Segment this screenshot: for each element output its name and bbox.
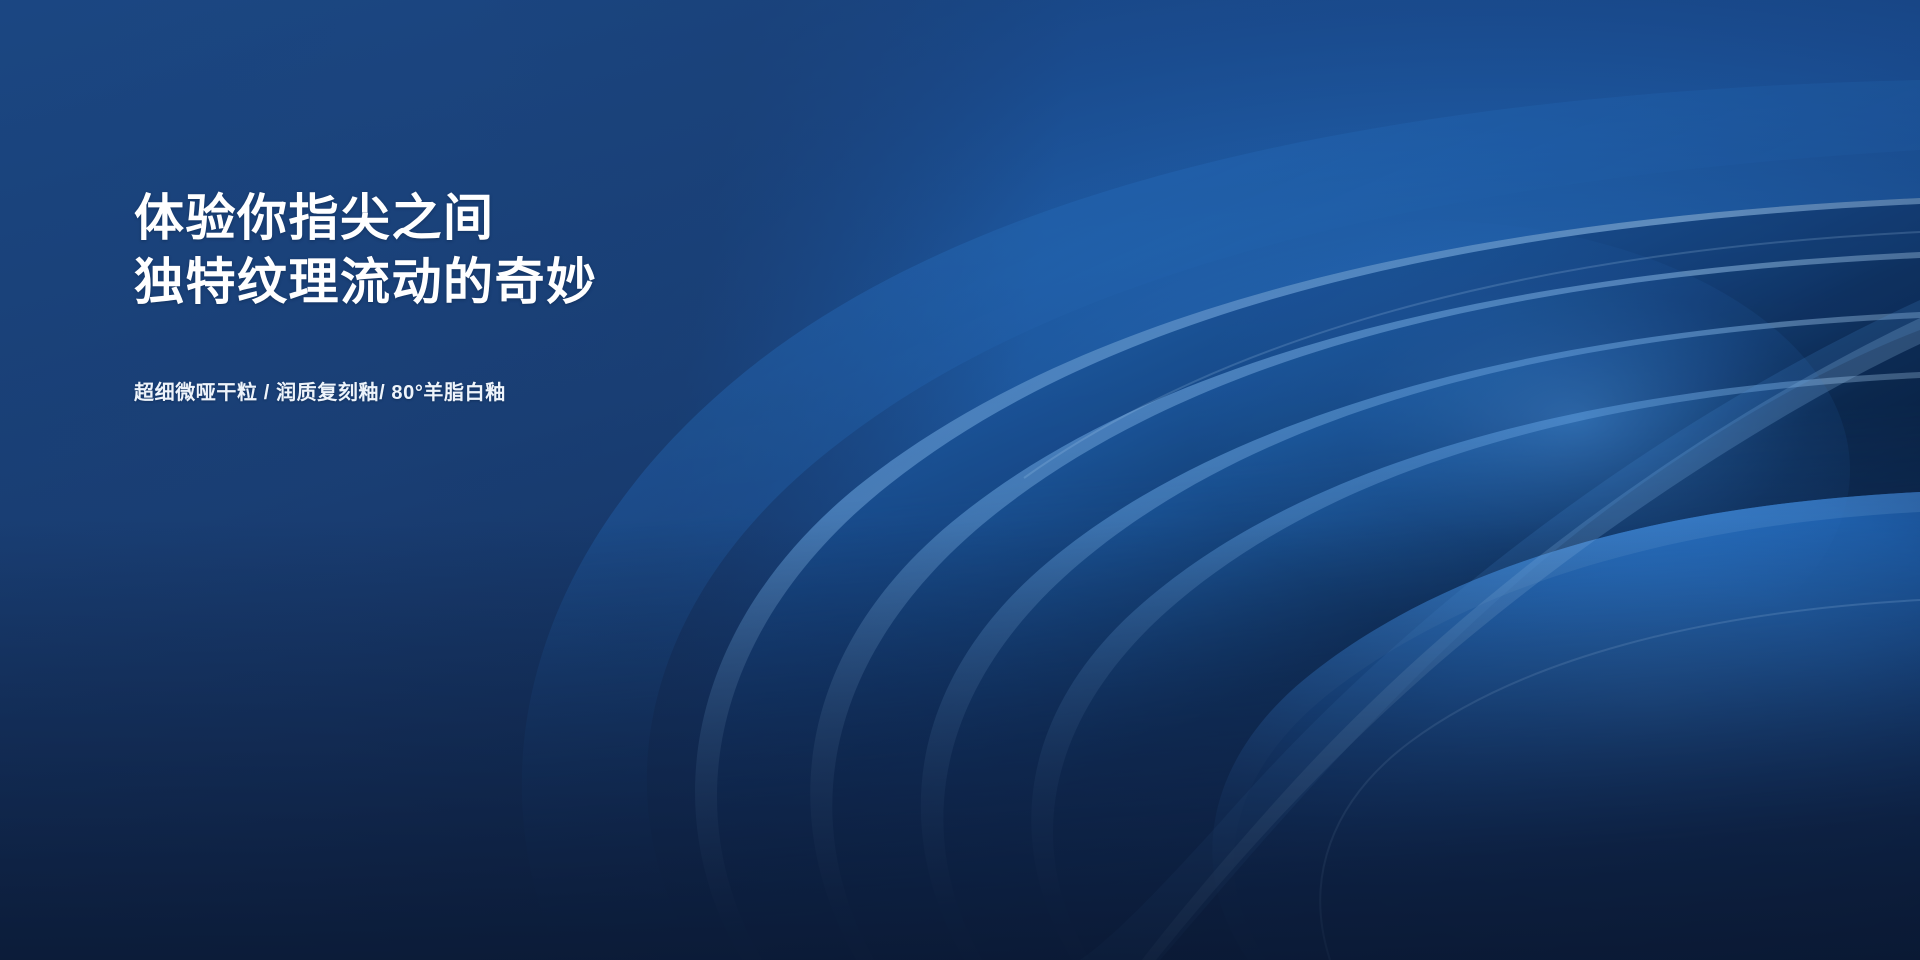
- page-title: 体验你指尖之间 独特纹理流动的奇妙: [134, 186, 894, 314]
- hero-subtitle: 超细微哑干粒 / 润质复刻釉/ 80°羊脂白釉: [134, 378, 894, 408]
- headline-line-2: 独特纹理流动的奇妙: [134, 250, 894, 314]
- headline-line-1: 体验你指尖之间: [134, 186, 894, 250]
- background-bottom-fade: [0, 518, 1920, 960]
- hero-copy-block: 体验你指尖之间 独特纹理流动的奇妙 超细微哑干粒 / 润质复刻釉/ 80°羊脂白…: [134, 186, 894, 408]
- hero-banner: 体验你指尖之间 独特纹理流动的奇妙 超细微哑干粒 / 润质复刻釉/ 80°羊脂白…: [0, 0, 1920, 960]
